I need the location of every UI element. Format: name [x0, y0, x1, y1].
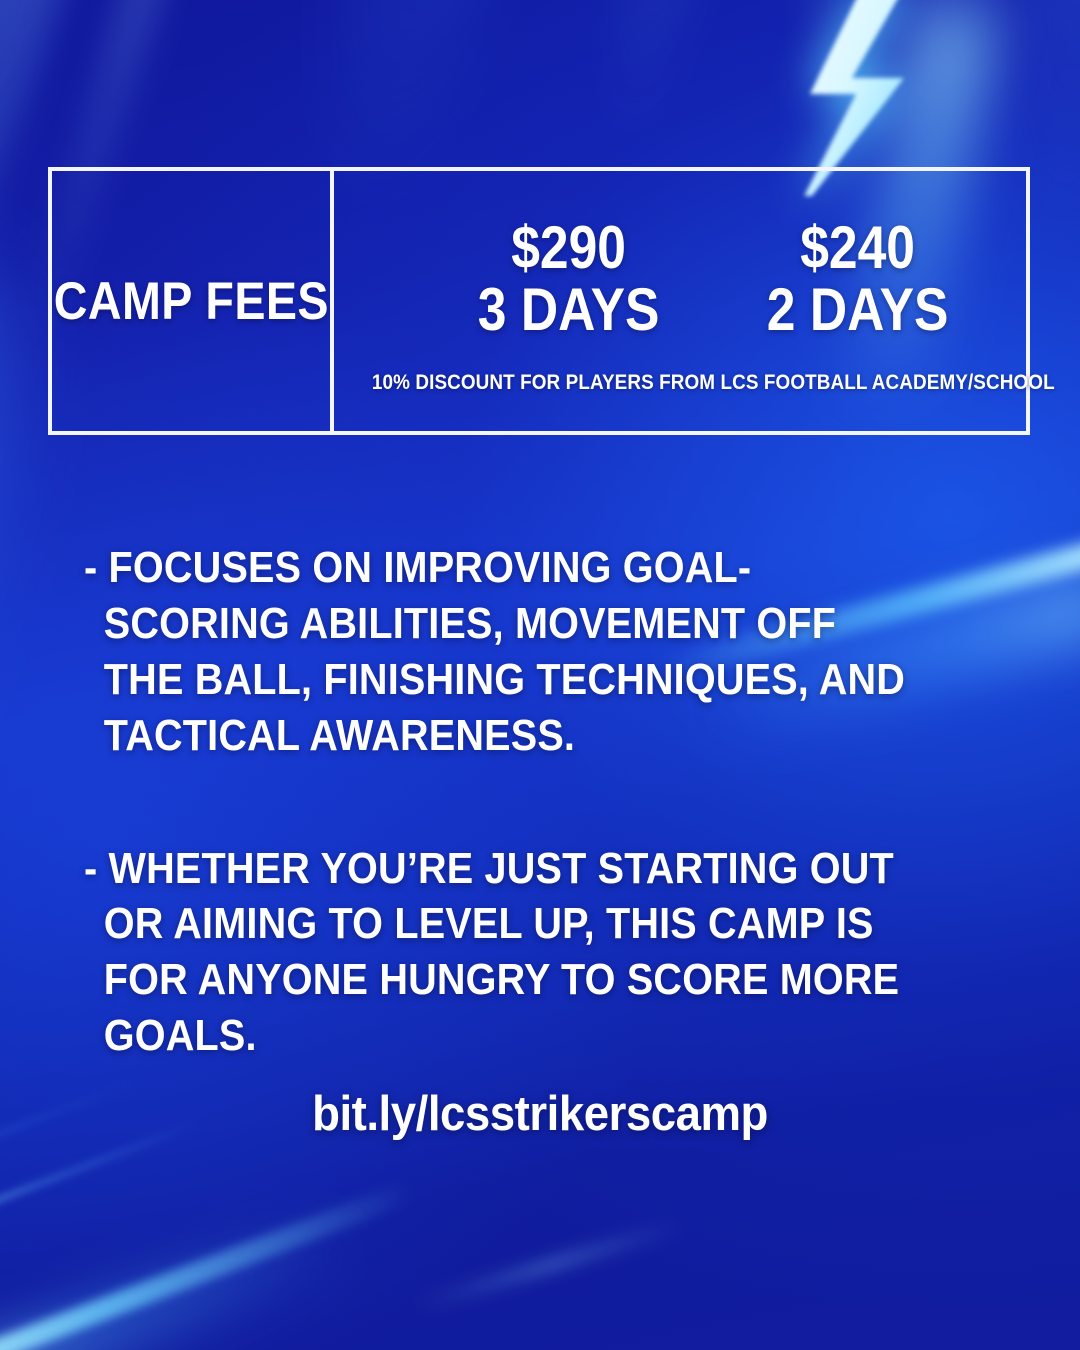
price-amount: $240 — [767, 217, 949, 279]
body-paragraph: - FOCUSES ON IMPROVING GOAL-SCORING ABIL… — [84, 540, 921, 764]
promo-poster: CAMP FEES $290 3 DAYS $240 2 DAYS 10% DI… — [0, 0, 1080, 1350]
price-duration: 3 DAYS — [478, 279, 660, 341]
price-option-3-days: $290 3 DAYS — [463, 217, 674, 342]
camp-fees-title: CAMP FEES — [53, 275, 328, 328]
price-duration: 2 DAYS — [767, 279, 949, 341]
light-ray — [781, 0, 957, 107]
body-copy: - FOCUSES ON IMPROVING GOAL-SCORING ABIL… — [84, 540, 1014, 1064]
light-beam-bottom-center — [415, 1220, 686, 1310]
signup-link[interactable]: bit.ly/lcsstrikerscamp — [38, 1086, 1042, 1142]
light-ray — [582, 0, 829, 147]
light-beam-bottom-left-thin — [0, 1118, 203, 1278]
price-amount: $290 — [478, 217, 660, 279]
camp-fees-box: CAMP FEES $290 3 DAYS $240 2 DAYS 10% DI… — [48, 167, 1030, 435]
camp-fees-label-cell: CAMP FEES — [52, 171, 334, 431]
price-row: $290 3 DAYS $240 2 DAYS — [463, 217, 963, 342]
price-option-2-days: $240 2 DAYS — [752, 217, 963, 342]
camp-fees-values-cell: $290 3 DAYS $240 2 DAYS 10% DISCOUNT FOR… — [334, 171, 1080, 431]
light-beam-bottom-left — [0, 1180, 416, 1350]
discount-note: 10% DISCOUNT FOR PLAYERS FROM LCS FOOTBA… — [372, 371, 1055, 395]
body-paragraph: - WHETHER YOU’RE JUST STARTING OUT OR AI… — [84, 841, 921, 1065]
